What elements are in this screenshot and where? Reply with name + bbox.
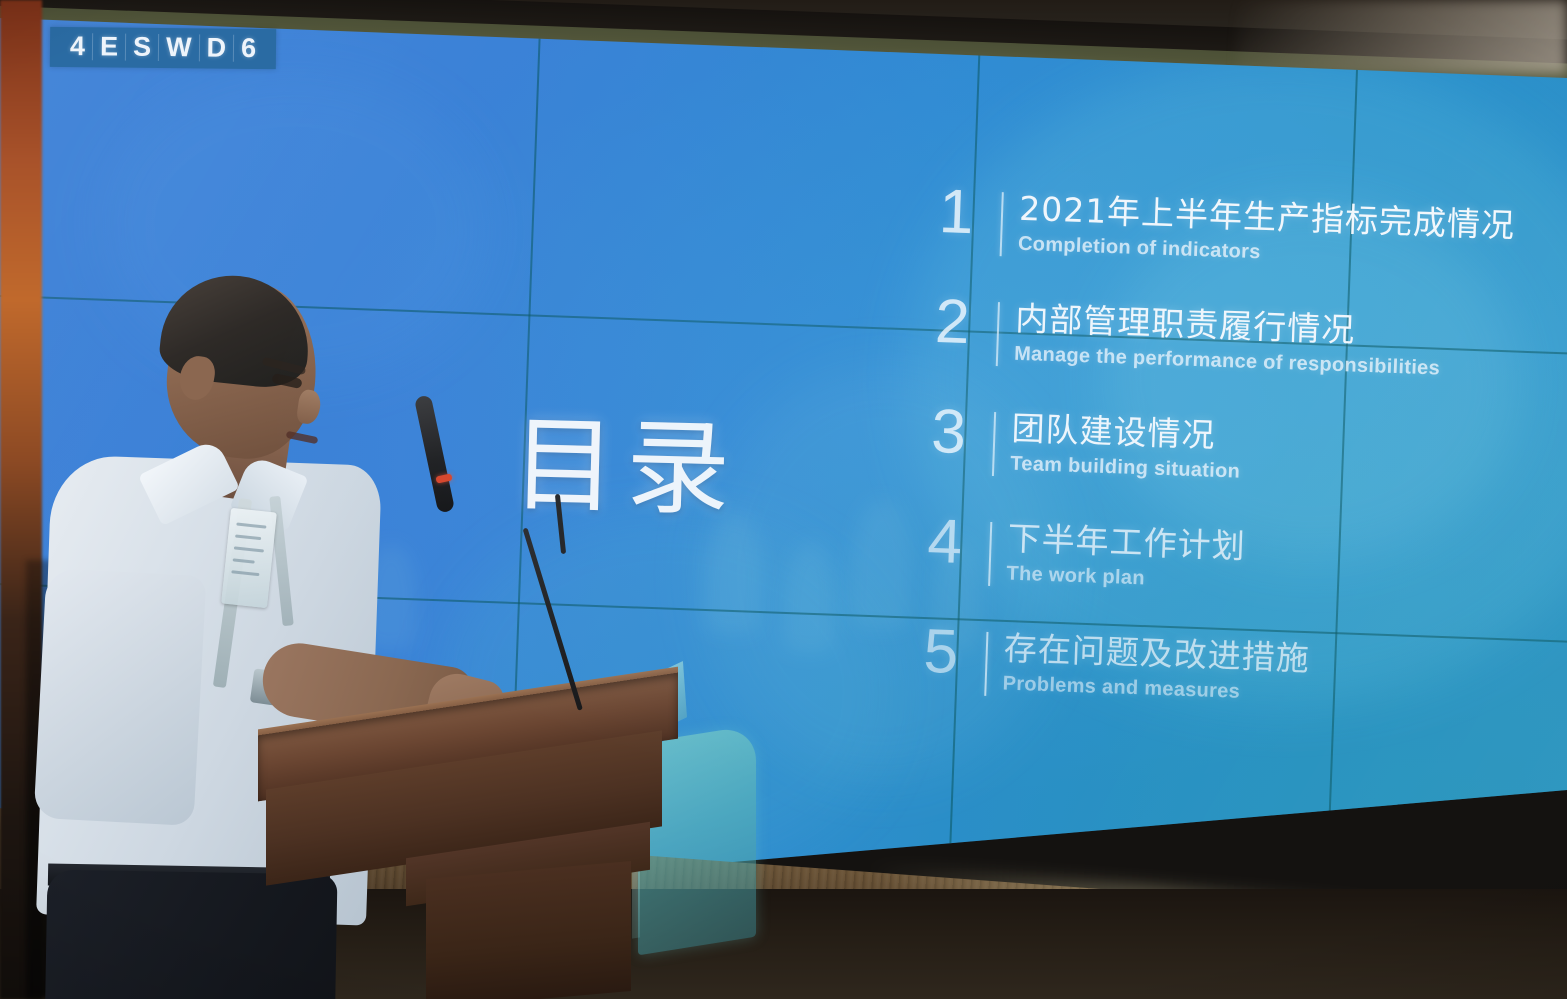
logo-char: S	[125, 34, 158, 61]
agenda-item-number: 5	[923, 625, 971, 679]
agenda-item-number: 4	[927, 516, 975, 570]
badge-text-line	[236, 523, 266, 529]
agenda-item-text: 内部管理职责履行情况 Manage the performance of res…	[1014, 299, 1442, 382]
badge-text-line	[233, 558, 255, 563]
agenda-item: 5 存在问题及改进措施 Problems and measures	[922, 625, 1500, 713]
lectern	[258, 690, 778, 999]
agenda-item-title-cn: 下半年工作计划	[1007, 519, 1246, 566]
presenter-nose	[296, 389, 323, 426]
agenda-item-divider	[984, 632, 988, 696]
agenda-item: 3 团队建设情况 Team building situation	[930, 406, 1508, 494]
logo-char: E	[92, 33, 125, 60]
agenda-item-divider	[988, 522, 992, 586]
agenda-list: 1 2021年上半年生产指标完成情况 Completion of indicat…	[921, 186, 1516, 755]
agenda-item-divider	[996, 302, 1000, 366]
agenda-item-text: 下半年工作计划 The work plan	[1006, 518, 1246, 594]
logo-char: 4	[63, 33, 92, 60]
agenda-item-divider	[1000, 192, 1004, 256]
agenda-item-text: 存在问题及改进措施 Problems and measures	[1002, 628, 1310, 707]
badge-text-line	[235, 534, 261, 540]
presenter-mouth	[286, 431, 319, 445]
agenda-item: 2 内部管理职责履行情况 Manage the performance of r…	[934, 296, 1512, 384]
agenda-item-text: 团队建设情况 Team building situation	[1010, 409, 1242, 485]
badge-text-line	[234, 546, 264, 552]
agenda-item-number: 3	[930, 406, 978, 460]
agenda-item-title-cn: 团队建设情况	[1011, 410, 1242, 457]
presenter-sleeve	[34, 568, 207, 826]
eswd-logo: 4 E S W D 6	[50, 27, 276, 69]
ceiling-light-reflection	[1237, 0, 1567, 74]
lectern-base	[426, 861, 631, 999]
agenda-item-number: 2	[934, 296, 982, 350]
logo-char: 6	[233, 35, 263, 62]
agenda-item-divider	[992, 412, 996, 476]
agenda-item-number: 1	[938, 186, 986, 240]
agenda-item-title-en: Team building situation	[1010, 451, 1241, 484]
conference-presentation-photo: 4 E S W D 6 目录 1 2021年上半年生产指标完成情况 Comple…	[0, 0, 1567, 999]
logo-char: D	[198, 34, 233, 61]
slide-title: 目录	[511, 412, 741, 522]
badge-text-line	[231, 570, 259, 576]
agenda-item-title-en: The work plan	[1006, 561, 1245, 594]
agenda-item-title-cn: 存在问题及改进措施	[1003, 629, 1310, 679]
agenda-item: 4 下半年工作计划 The work plan	[926, 516, 1504, 604]
logo-char: W	[158, 34, 199, 61]
